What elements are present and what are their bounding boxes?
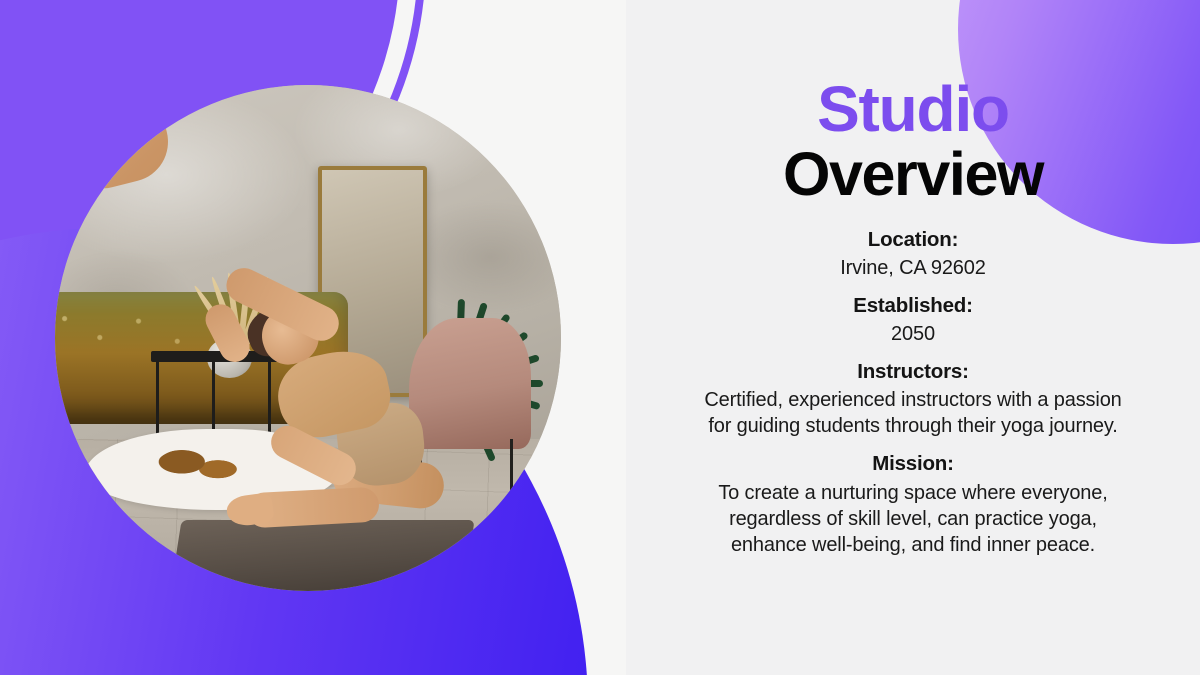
- detail-label-location: Location:: [703, 227, 1123, 253]
- photo-woman-forearm: [200, 299, 255, 367]
- detail-value-location: Irvine, CA 92602: [703, 255, 1123, 281]
- photo-scene: [55, 85, 561, 591]
- page-title: Studio Overview: [626, 78, 1200, 205]
- photo-woman: [55, 85, 561, 591]
- detail-value-established: 2050: [703, 321, 1123, 347]
- title-line-overview: Overview: [626, 144, 1200, 204]
- studio-details-list: Location: Irvine, CA 92602 Established: …: [703, 227, 1123, 558]
- photo-woman-torso: [55, 85, 177, 198]
- detail-label-instructors: Instructors:: [703, 359, 1123, 385]
- detail-label-established: Established:: [703, 293, 1123, 319]
- title-line-studio: Studio: [626, 78, 1200, 141]
- overview-content: Studio Overview Location: Irvine, CA 926…: [626, 0, 1200, 675]
- detail-label-mission: Mission:: [703, 451, 1123, 477]
- detail-value-instructors: Certified, experienced instructors with …: [703, 387, 1123, 439]
- slide-studio-overview: Studio Overview Location: Irvine, CA 926…: [0, 0, 1200, 675]
- detail-value-mission: To create a nurturing space where everyo…: [703, 480, 1123, 558]
- studio-photo: [55, 85, 561, 591]
